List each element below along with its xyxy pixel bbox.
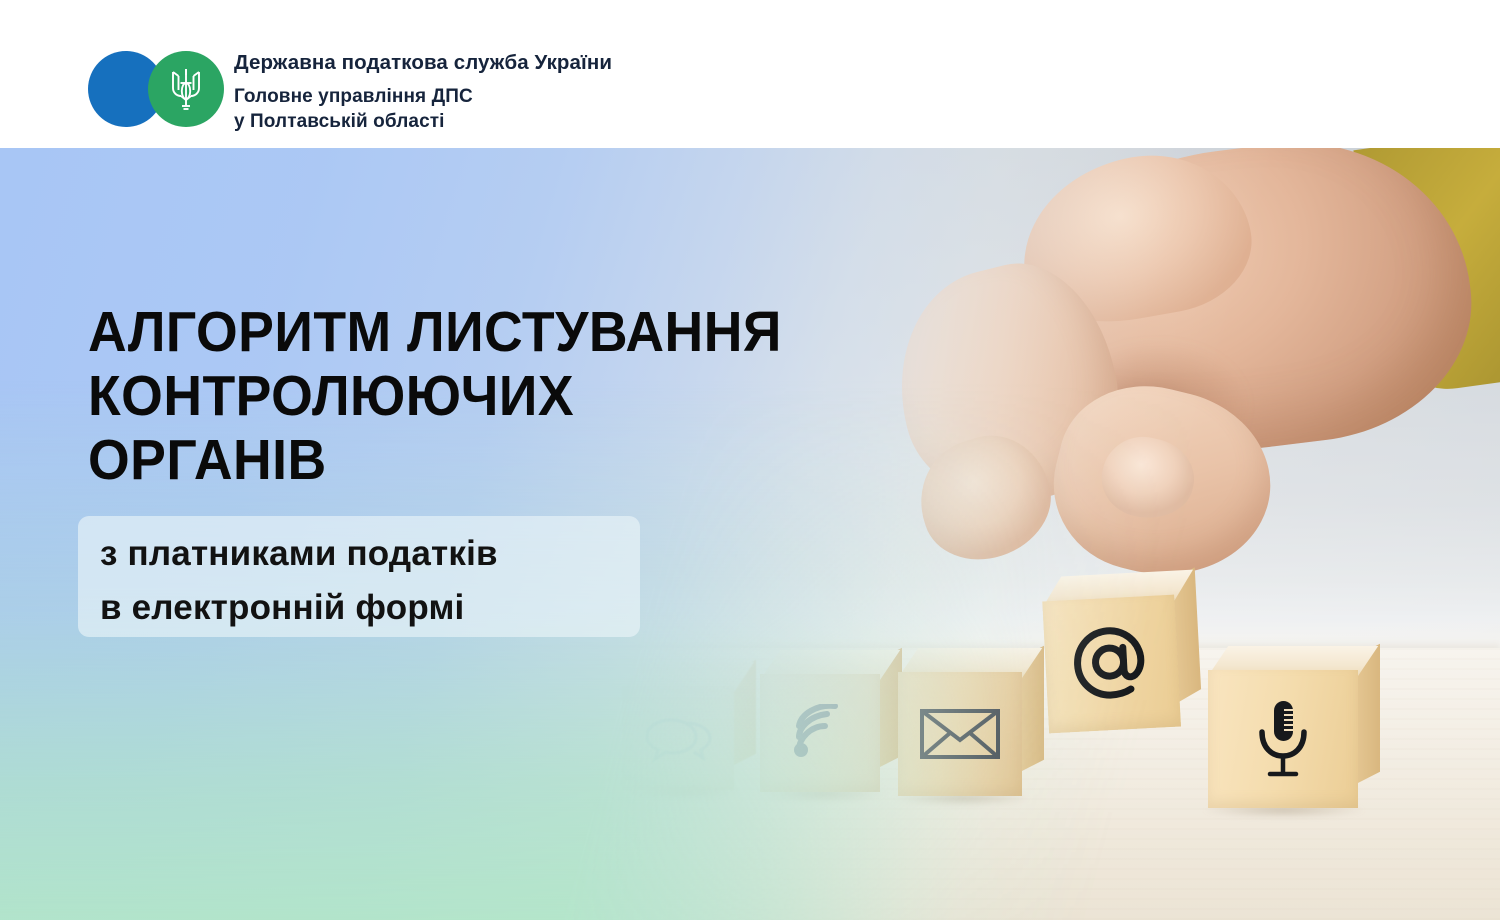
brand-text: Державна податкова служба України Головн… bbox=[234, 48, 612, 134]
org-name-line-3: у Полтавській області bbox=[234, 109, 612, 134]
headline-line-1: АЛГОРИТМ ЛИСТУВАННЯ bbox=[88, 300, 859, 364]
logo-marks bbox=[88, 48, 220, 130]
headline-line-3: ОРГАНІВ bbox=[88, 428, 859, 492]
page-subtitle: з платниками податків в електронній форм… bbox=[100, 527, 660, 635]
poster-canvas: Державна податкова служба України Головн… bbox=[0, 0, 1500, 920]
org-name-line-2: Головне управління ДПС bbox=[234, 84, 612, 109]
org-name-line-1: Державна податкова служба України bbox=[234, 50, 612, 76]
page-title: АЛГОРИТМ ЛИСТУВАННЯ КОНТРОЛЮЮЧИХ ОРГАНІВ bbox=[88, 300, 859, 492]
subtitle-line-1: з платниками податків bbox=[100, 527, 660, 581]
brand-block: Державна податкова служба України Головн… bbox=[88, 48, 612, 134]
green-circle-icon bbox=[148, 51, 224, 127]
header-band: Державна податкова служба України Головн… bbox=[0, 0, 1500, 148]
ukraine-trident-icon bbox=[169, 66, 203, 112]
subtitle-line-2: в електронній формі bbox=[100, 581, 660, 635]
headline-line-2: КОНТРОЛЮЮЧИХ bbox=[88, 364, 859, 428]
